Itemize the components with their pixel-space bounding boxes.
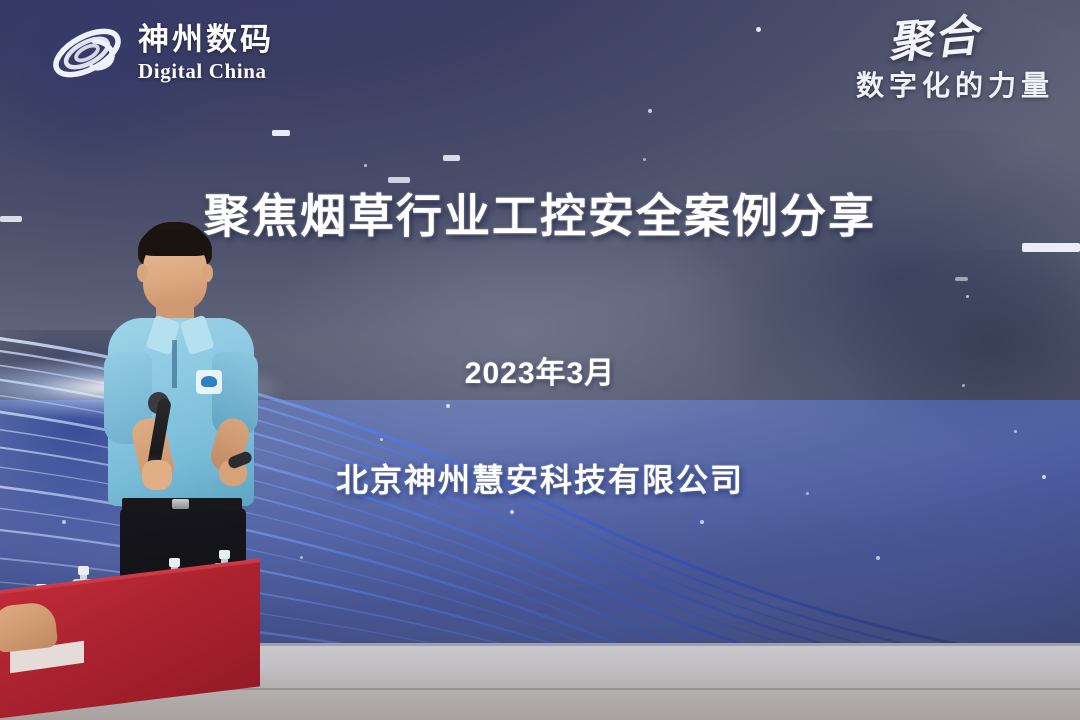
logo-english-text: Digital China [138,61,274,82]
slogan-subtitle: 数字化的力量 [856,64,1054,104]
digital-china-wordmark: 神州数码 Digital China [138,24,274,82]
presenter-ear-left [137,264,148,282]
event-slogan-logo: 聚合 数字化的力量 [856,18,1054,104]
logo-chinese-text: 神州数码 [138,24,274,55]
presenter-hand-left [142,460,172,490]
slogan-calligraphy: 聚合 [886,14,981,66]
conference-stage-photo: 聚焦烟草行业工控安全案例分享 2023年3月 北京神州慧安科技有限公司 神州数码… [0,0,1080,720]
presenter-ear-right [202,264,213,282]
digital-china-logo: 神州数码 Digital China [48,20,274,86]
presenter-belt-buckle [172,499,189,509]
presenter-shirt-placket [172,340,177,388]
swirl-galaxy-icon [48,20,126,86]
presenter-hair-front [138,230,212,256]
presenter-shirt-logo-patch [196,370,222,394]
